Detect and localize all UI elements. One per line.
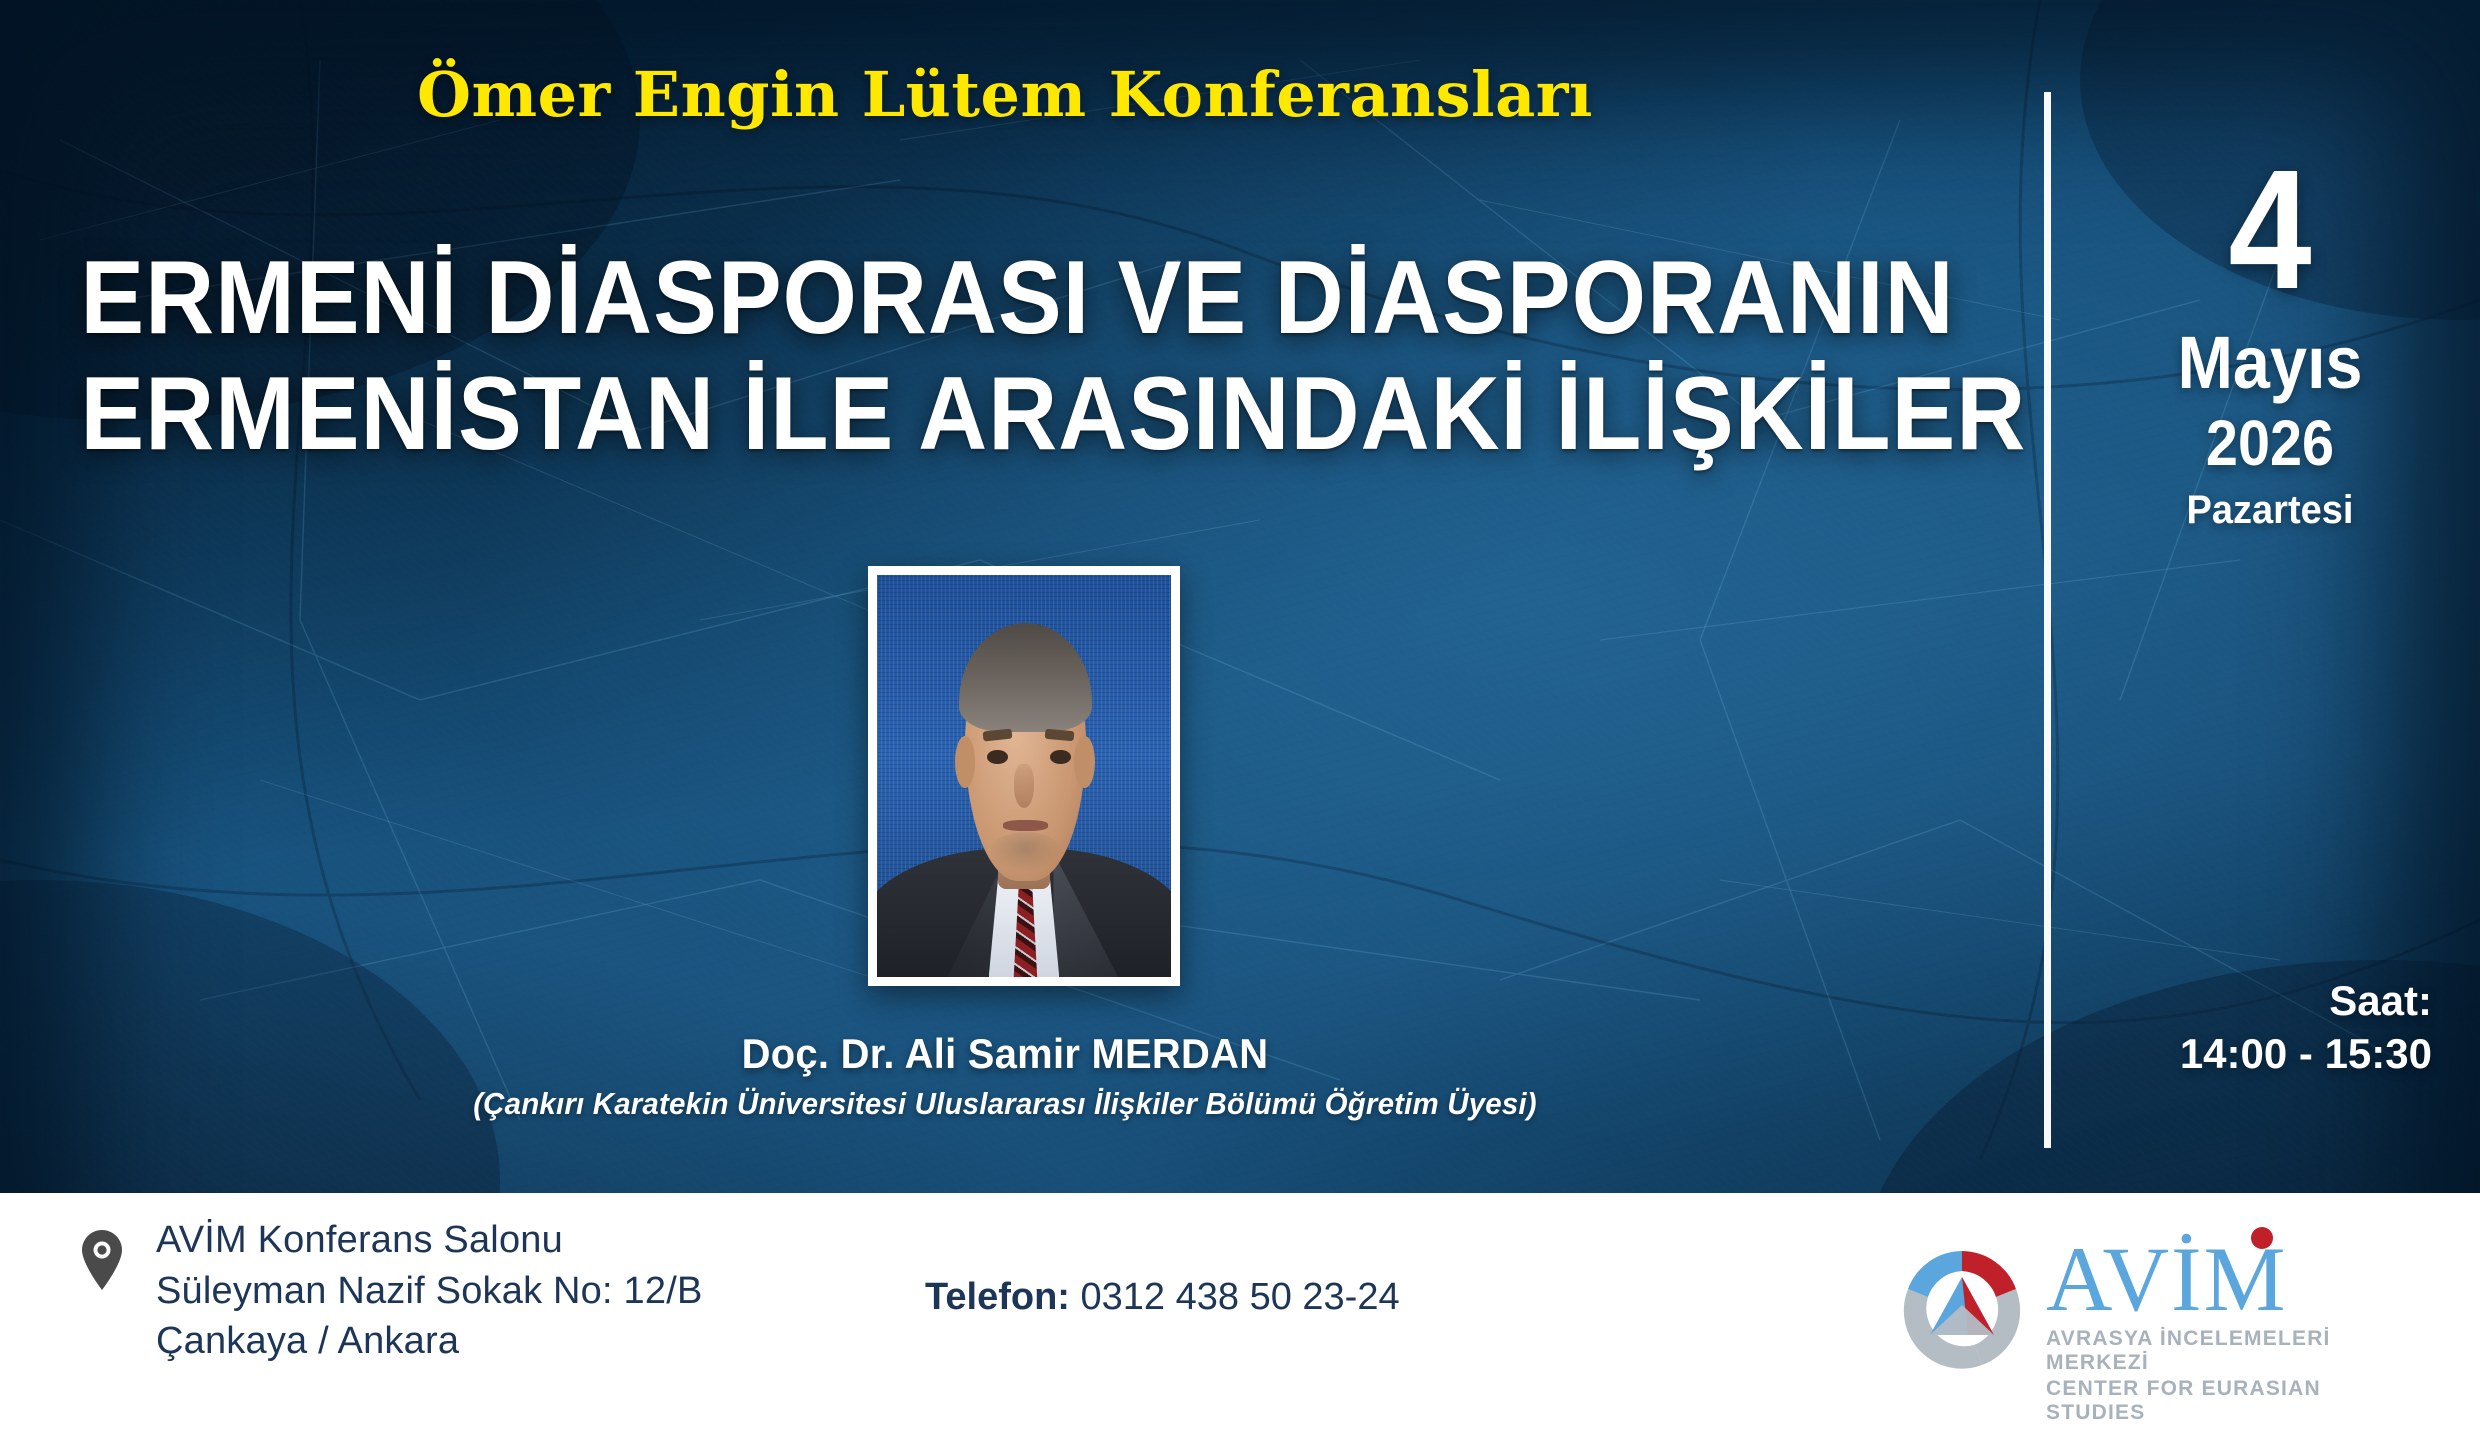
- avim-logo[interactable]: AVİM AVRASYA İNCELEMELERİ MERKEZİ CENTER…: [1876, 1227, 2436, 1397]
- date-year: 2026: [2108, 407, 2432, 481]
- headline-line-2: ERMENİSTAN İLE ARASINDAKİ İLİŞKİLER: [80, 356, 1929, 472]
- event-date: 4 Mayıs 2026 Pazartesi: [2090, 150, 2450, 534]
- address-line-1: AVİM Konferans Salonu: [156, 1215, 703, 1266]
- portrait-eye-right: [1050, 750, 1071, 764]
- avim-tagline-tr: AVRASYA İNCELEMELERİ MERKEZİ: [2046, 1327, 2426, 1375]
- headline-line-1: ERMENİ DİASPORASI VE DİASPORANIN: [80, 240, 1929, 356]
- speaker-photo-frame: [868, 566, 1180, 986]
- portrait-mouth: [1003, 820, 1047, 830]
- map-pin-icon: [80, 1229, 124, 1291]
- event-poster: Ömer Engin Lütem Konferansları ERMENİ Dİ…: [0, 0, 2480, 1441]
- portrait-ear-right: [1074, 736, 1095, 788]
- phone-label: Telefon:: [925, 1276, 1070, 1318]
- vertical-divider: [2044, 92, 2051, 1148]
- phone-value: 0312 438 50 23-24: [1081, 1276, 1400, 1318]
- avim-emblem-icon: [1896, 1243, 2028, 1375]
- venue-address: AVİM Konferans Salonu Süleyman Nazif Sok…: [156, 1215, 703, 1367]
- speaker-portrait: [877, 575, 1171, 977]
- address-line-3: Çankaya / Ankara: [156, 1316, 703, 1367]
- event-time: Saat: 14:00 - 15:30: [2090, 975, 2450, 1080]
- speaker-affiliation: (Çankırı Karatekin Üniversitesi Uluslara…: [50, 1086, 1960, 1122]
- portrait-hair: [959, 623, 1091, 732]
- speaker-name: Doç. Dr. Ali Samir MERDAN: [50, 1030, 1960, 1078]
- time-label: Saat:: [2090, 975, 2432, 1028]
- date-day: 4: [2112, 150, 2429, 312]
- avim-dot-icon: [2251, 1227, 2273, 1249]
- avim-wordmark: AVİM: [2046, 1233, 2426, 1325]
- phone-info: Telefon: 0312 438 50 23-24: [925, 1276, 1400, 1319]
- page-title: ERMENİ DİASPORASI VE DİASPORANIN ERMENİS…: [80, 240, 1929, 473]
- date-month: Mayıs: [2108, 322, 2432, 403]
- avim-tagline-en: CENTER FOR EURASIAN STUDIES: [2046, 1377, 2426, 1425]
- date-weekday: Pazartesi: [2099, 486, 2441, 534]
- footer-bar: AVİM Konferans Salonu Süleyman Nazif Sok…: [0, 1193, 2480, 1441]
- address-line-2: Süleyman Nazif Sokak No: 12/B: [156, 1266, 703, 1317]
- avim-wordmark-block: AVİM AVRASYA İNCELEMELERİ MERKEZİ CENTER…: [2046, 1233, 2426, 1425]
- portrait-eye-left: [987, 750, 1008, 764]
- conference-series-kicker: Ömer Engin Lütem Konferansları: [0, 58, 2010, 131]
- time-value: 14:00 - 15:30: [2090, 1028, 2432, 1081]
- avim-wordmark-text: AVİM: [2046, 1228, 2287, 1330]
